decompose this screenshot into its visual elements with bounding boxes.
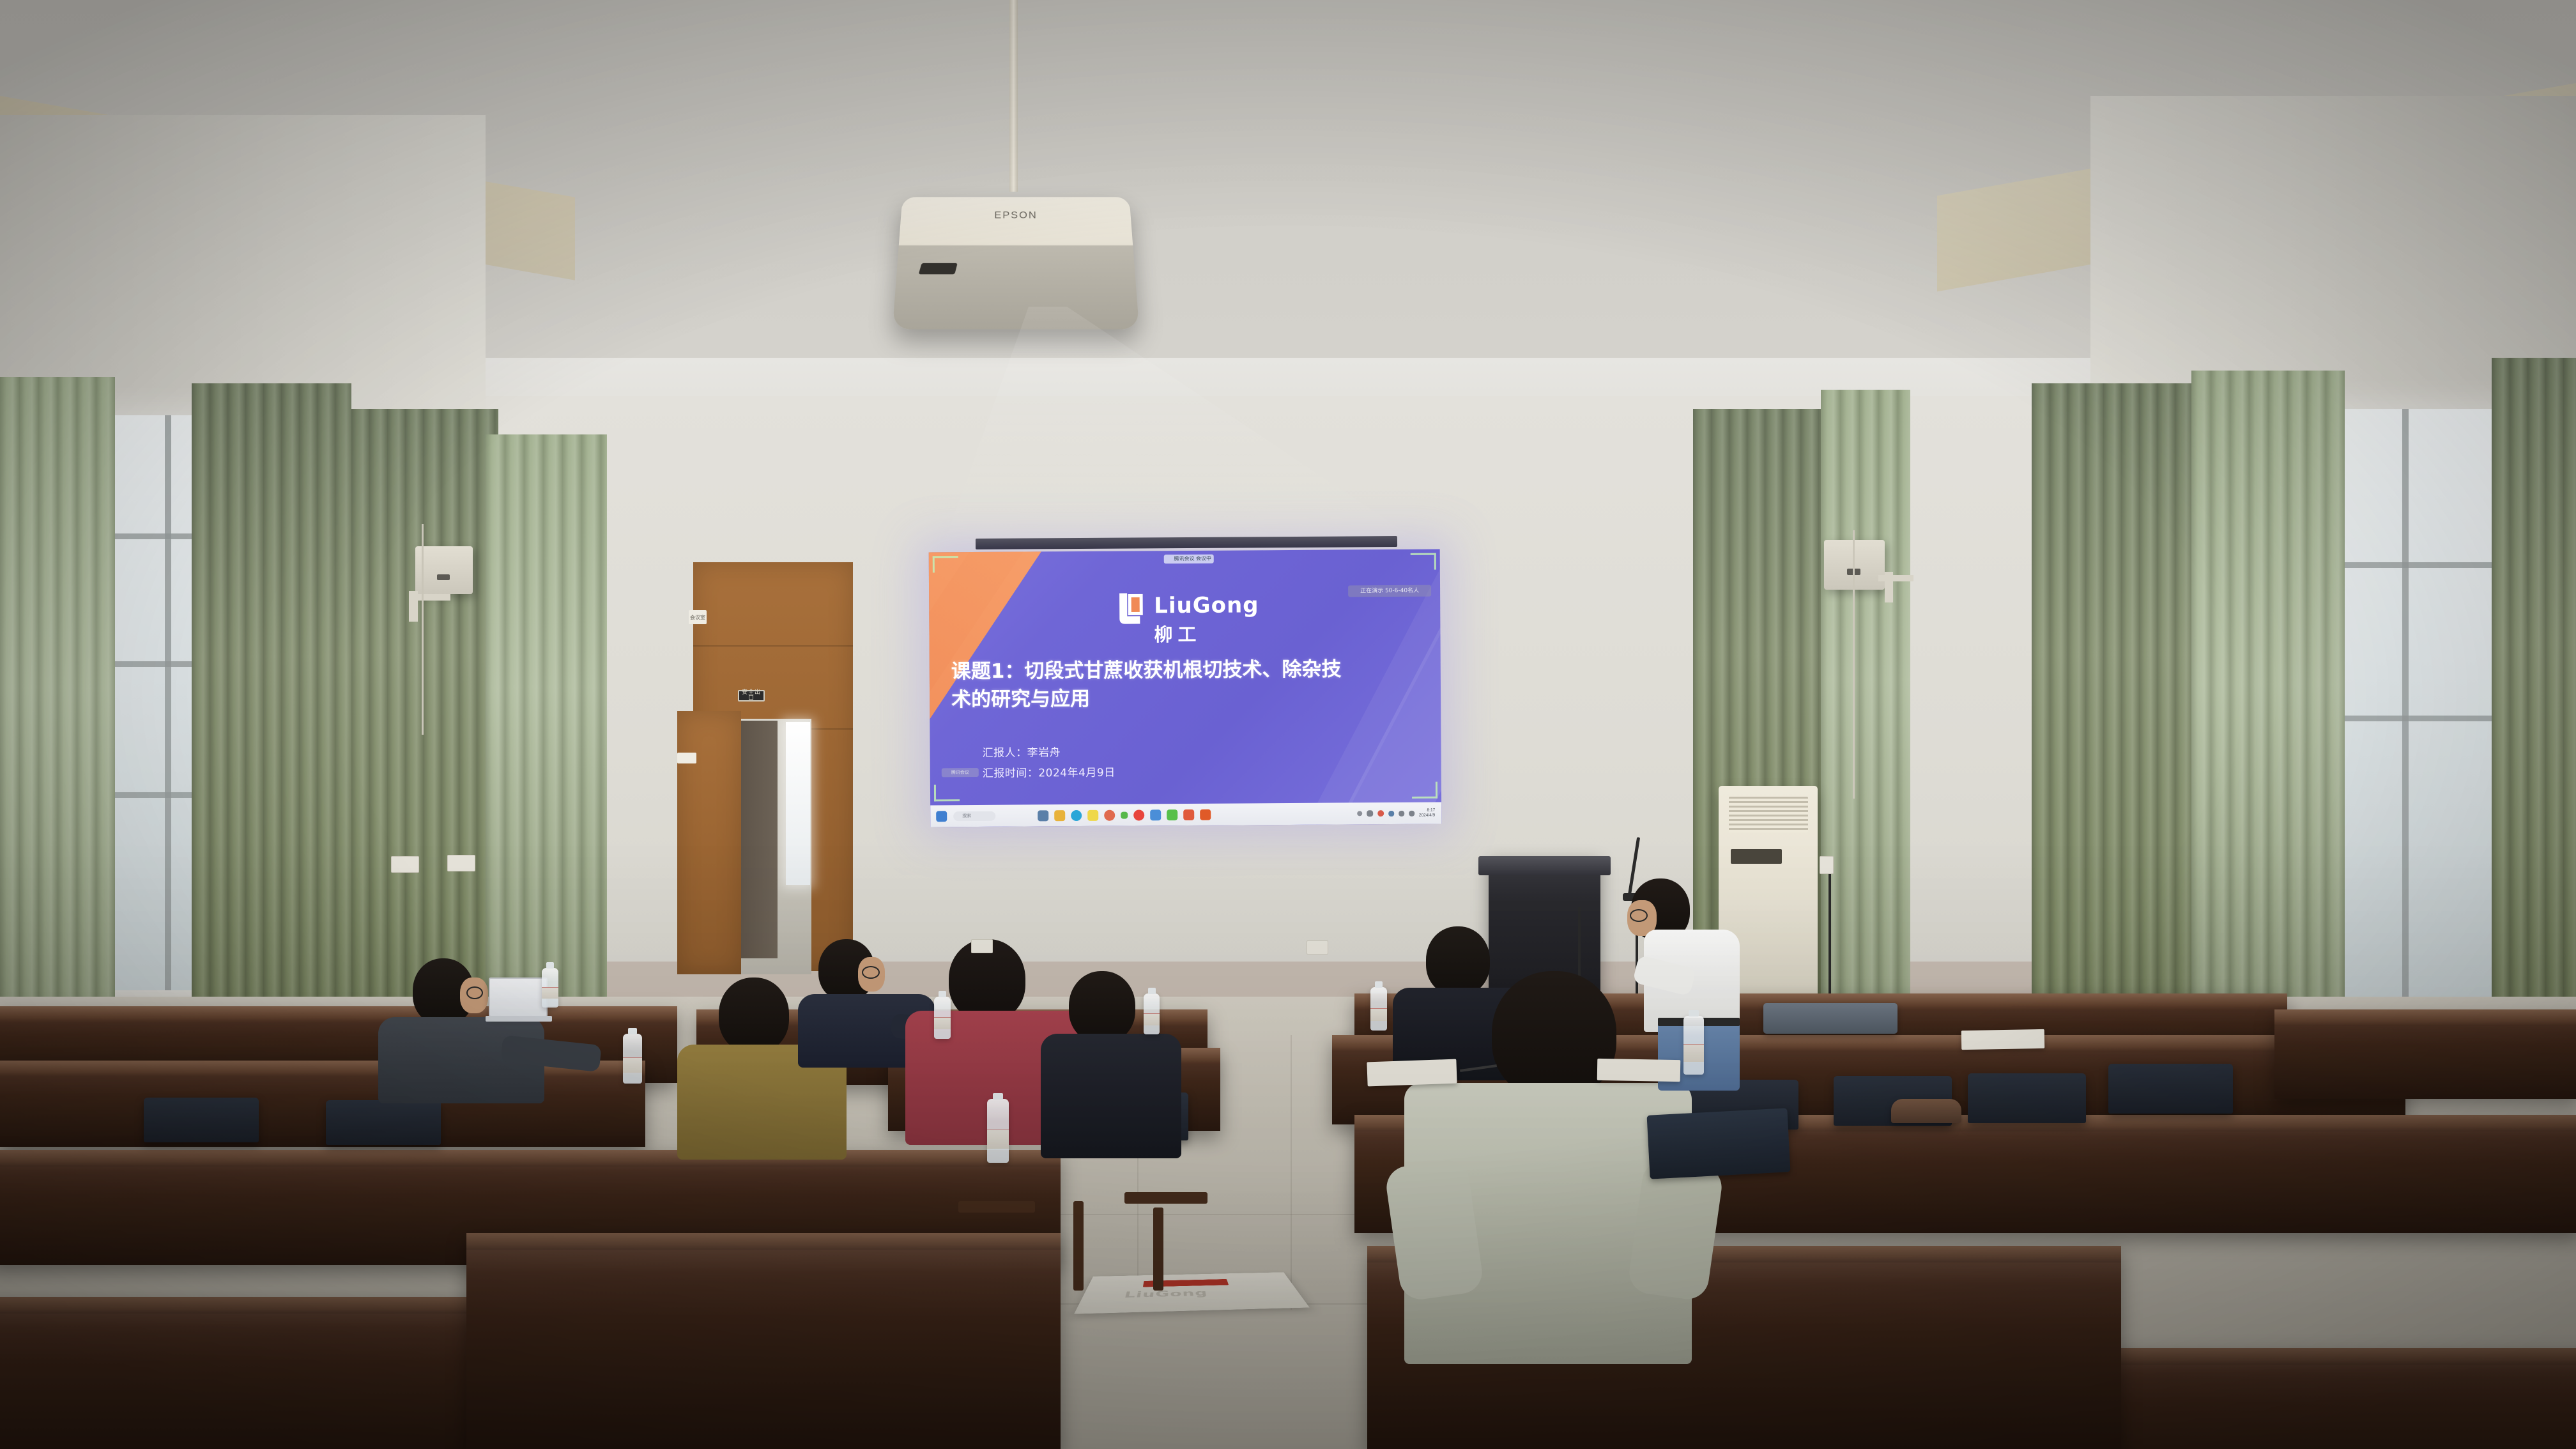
notebook[interactable]	[1367, 1059, 1457, 1087]
start-icon[interactable]	[936, 811, 947, 822]
liugong-logo-mark	[1115, 590, 1144, 626]
head	[719, 977, 789, 1053]
screen-corner-marker	[933, 556, 958, 572]
bottle-label	[1144, 1013, 1160, 1025]
explorer-icon[interactable]	[1054, 810, 1065, 821]
bottle-cap	[1148, 988, 1156, 994]
speaker-bracket-left-post	[409, 591, 418, 622]
wall-outlet[interactable]	[447, 855, 475, 871]
volume-icon[interactable]	[1399, 810, 1404, 816]
exit-sign: 安全出口	[738, 690, 765, 701]
wall-speaker-left	[415, 546, 473, 594]
glasses-icon	[1630, 909, 1648, 922]
water-bottle[interactable]	[934, 997, 951, 1039]
attendee-dark-center	[1038, 971, 1198, 1156]
wall-outlet[interactable]	[1307, 940, 1328, 954]
door-leaf[interactable]	[738, 721, 778, 958]
speaker-vent	[437, 574, 450, 581]
banner-watermark: LiuGong	[1123, 1287, 1264, 1301]
bottle-cap	[1375, 981, 1383, 988]
water-bottle[interactable]	[1144, 993, 1160, 1034]
ime-icon[interactable]	[1388, 811, 1394, 816]
bottle-label	[542, 987, 558, 999]
bottle-cap	[939, 991, 946, 997]
liugong-logo-text-cn: 柳工	[1154, 620, 1201, 647]
corridor-window	[786, 722, 810, 885]
desk-row-mid-far-right	[2274, 1009, 2576, 1099]
laptop-keyboard[interactable]	[486, 1016, 552, 1022]
wall-outlet[interactable]	[1820, 856, 1834, 874]
liugong-logo-text-en: LiuGong	[1154, 592, 1259, 618]
ac-vent-grille	[1729, 797, 1808, 832]
curtain-right-e	[2492, 358, 2576, 1073]
chair[interactable]	[2108, 1064, 2233, 1114]
teams-icon[interactable]	[1150, 809, 1161, 820]
desk-surface	[0, 1150, 1061, 1167]
speaker-wire-left	[422, 524, 424, 735]
bottle-cap	[1689, 1010, 1698, 1016]
conference-room-photo: 安全出口 会议室 EPSON 腾讯会议 会议中 正在演示 5	[0, 0, 2576, 1449]
curtain-left-c	[486, 434, 607, 997]
notebook[interactable]	[1961, 1029, 2045, 1050]
clock-time: 8:17	[1419, 808, 1435, 813]
bottle-label	[934, 1017, 951, 1030]
door-notice-plate	[677, 753, 696, 763]
wood-panel-seam	[693, 645, 853, 647]
slide-title-line2: 术的研究与应用	[951, 685, 1424, 713]
slide-presenter: 汇报人：李岩舟	[983, 743, 1061, 760]
meeting-icon[interactable]	[1183, 809, 1194, 820]
meeting-status-badge: 腾讯会议 会议中	[1164, 555, 1214, 563]
projector: EPSON	[893, 197, 1139, 329]
bottle-label	[1370, 1008, 1387, 1021]
curtain-right-d	[2191, 371, 2345, 1067]
speaker-bracket-right	[1878, 575, 1913, 581]
torso	[1041, 1034, 1181, 1158]
liugong-floor-banner: LiuGong	[1074, 1272, 1310, 1314]
taskbar-clock[interactable]: 8:17 2024/4/9	[1419, 808, 1435, 818]
water-bottle[interactable]	[542, 968, 558, 1008]
desk-center-foreground	[466, 1233, 1061, 1449]
desk-surface	[2274, 1009, 2576, 1026]
notification-icon[interactable]	[1409, 810, 1414, 816]
green-app-icon[interactable]	[1121, 811, 1128, 818]
curtain-right-b	[1821, 390, 1910, 1035]
floor-tile-seam	[1291, 1035, 1292, 1310]
window-mullion	[165, 415, 171, 990]
chair-armrest	[958, 1201, 1035, 1213]
laptop-bag[interactable]	[1647, 1108, 1791, 1179]
bottle-label	[623, 1057, 642, 1072]
wall-outlet[interactable]	[971, 939, 993, 953]
media-icon[interactable]	[1104, 809, 1115, 820]
screen-corner-marker	[1411, 553, 1436, 570]
bottle-cap	[546, 962, 554, 969]
wechat-icon[interactable]	[1167, 809, 1177, 820]
chair-leg	[1073, 1201, 1084, 1291]
desk-gloss	[466, 1233, 1061, 1449]
wall-outlet[interactable]	[391, 856, 419, 873]
meeting-mini-badge: 腾讯会议	[942, 768, 979, 777]
water-bottle[interactable]	[623, 1034, 642, 1084]
bottle-cap	[993, 1093, 1003, 1100]
screen-corner-marker	[934, 785, 960, 801]
edge-icon[interactable]	[1071, 809, 1082, 820]
ac-control-panel	[1731, 849, 1782, 864]
head	[1069, 971, 1135, 1043]
laptop[interactable]	[489, 977, 548, 1017]
water-bottle[interactable]	[1370, 987, 1387, 1031]
projector-brand-label: EPSON	[994, 210, 1038, 221]
screen-corner-marker	[1412, 782, 1437, 799]
chair-armrest	[1124, 1192, 1207, 1204]
bottle-label	[1683, 1044, 1704, 1062]
glasses-icon	[862, 966, 880, 979]
bottle-cap	[628, 1028, 637, 1034]
curtain-left-outer	[0, 377, 115, 1067]
network-icon[interactable]	[1367, 810, 1373, 816]
jacket-on-chair	[1763, 1003, 1897, 1034]
room-label-plate: 会议室	[689, 610, 707, 624]
speaker-bracket-right-post	[1885, 572, 1893, 602]
window-mullion	[2402, 409, 2409, 997]
system-tray[interactable]: 8:17 2024/4/9	[1357, 808, 1435, 818]
curtain-left-b	[351, 409, 498, 1022]
windows-taskbar[interactable]: 搜索 8:17 2024/4/9	[930, 802, 1441, 827]
slide-title-line1: 课题1：切段式甘蔗收获机根切技术、除杂技	[951, 657, 1424, 685]
chair[interactable]	[1968, 1073, 2086, 1123]
chevron-up-icon[interactable]	[1357, 811, 1362, 816]
wps-icon[interactable]	[1133, 809, 1144, 820]
desk-surface	[466, 1233, 1061, 1250]
battery-icon[interactable]	[1377, 810, 1384, 816]
slide-date: 汇报时间：2024年4月9日	[983, 763, 1115, 780]
projector-lens	[919, 263, 958, 274]
notes-icon[interactable]	[1087, 809, 1098, 820]
water-bottle[interactable]	[1683, 1016, 1704, 1075]
chair[interactable]	[144, 1098, 259, 1142]
speaker-bracket-left	[412, 594, 450, 601]
door-panel-open[interactable]	[677, 711, 741, 974]
speaker-wire-right	[1853, 530, 1855, 799]
cap-on-desk	[1891, 1099, 1961, 1123]
glasses-icon	[466, 986, 483, 999]
clock-date: 2024/4/9	[1419, 813, 1435, 818]
bottle-label	[987, 1130, 1009, 1149]
chair-leg	[1153, 1207, 1163, 1291]
search-input[interactable]: 搜索	[953, 811, 995, 820]
chair[interactable]	[326, 1100, 441, 1145]
notebook[interactable]	[1597, 1059, 1681, 1082]
projector-mount-pole	[1009, 0, 1018, 192]
curtain-right-c	[2032, 383, 2204, 1061]
curtain-left-a	[192, 383, 351, 1067]
ppt-icon[interactable]	[1200, 809, 1211, 820]
task-view-icon[interactable]	[1038, 810, 1048, 821]
water-bottle[interactable]	[987, 1099, 1009, 1163]
presenting-count-badge: 正在演示 50-6-40名人	[1348, 585, 1431, 597]
projection-screen: 腾讯会议 会议中 正在演示 50-6-40名人 腾讯会议 LiuGong 柳工 …	[929, 549, 1442, 827]
lectern-top	[1478, 856, 1611, 875]
